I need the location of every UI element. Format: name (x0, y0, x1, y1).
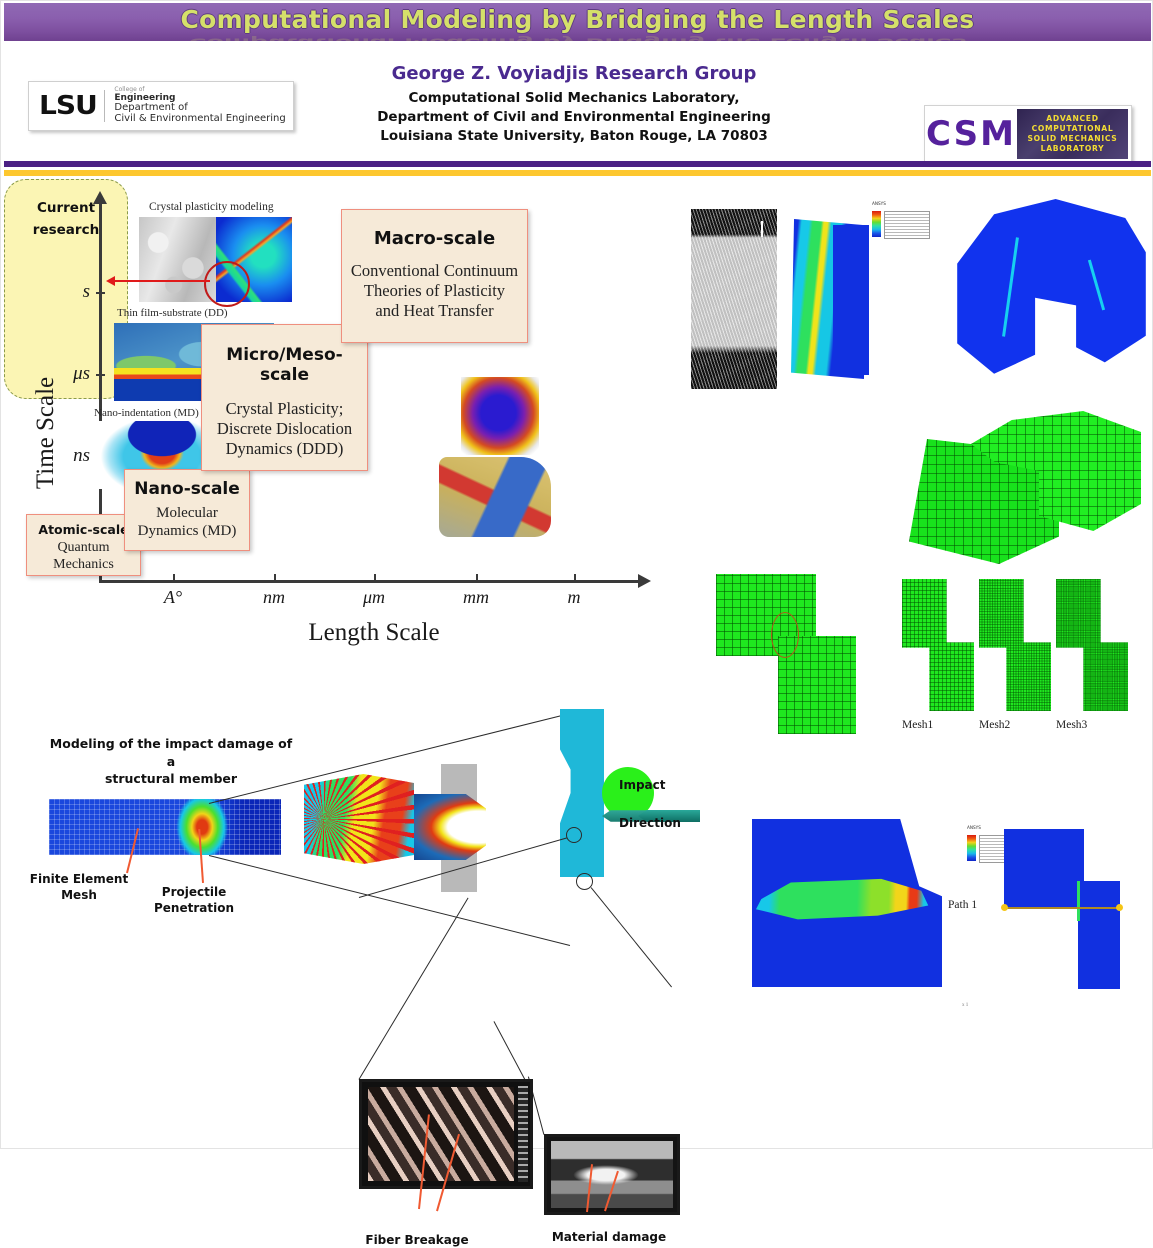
path-axis-tick-label: x 1 (962, 1003, 968, 1008)
y-tick-us (96, 374, 105, 376)
x-tick-nm (274, 574, 276, 583)
divider-gold (4, 170, 1151, 176)
current-research-line-1: Current (5, 198, 127, 220)
x-axis-arrow-icon (638, 574, 651, 588)
shell-simulation-image (461, 377, 539, 455)
divider-purple (4, 161, 1151, 167)
material-damage-sem-image (544, 1134, 680, 1215)
impact-title-line-2: structural member (46, 770, 296, 788)
inset-caption-crystal-plasticity: Crystal plasticity modeling (149, 201, 274, 213)
contour-plot-bottom (752, 819, 942, 987)
csm-line-2: COMPUTATIONAL (1032, 124, 1114, 134)
csm-line-1: ADVANCED (1046, 114, 1098, 124)
poster-body: Time Scale Length Scale s μs ns ps A° nm… (4, 179, 1151, 1147)
path-label: Path 1 (948, 899, 977, 911)
mesh-variant-1: Mesh1 (902, 579, 982, 731)
x-tick-um (374, 574, 376, 583)
callout-leader-fiber-right (493, 1021, 525, 1080)
x-tick-label-m: m (539, 587, 609, 608)
micro-meso-body-1: Crystal Plasticity; (202, 399, 367, 419)
lsu-wordmark: LSU (28, 91, 105, 121)
micro-meso-body-3: Dynamics (DDD) (202, 439, 367, 459)
x-tick-label-angstrom: A° (138, 587, 208, 608)
mesh1-label: Mesh1 (902, 711, 982, 731)
y-tick-label-s: s (40, 281, 90, 303)
path-start-point (1001, 904, 1008, 911)
plate-damage-contour (414, 794, 486, 860)
region-macro-scale: Macro-scale Conventional Continuum Theor… (341, 209, 528, 343)
csm-logo: CSM ADVANCED COMPUTATIONAL SOLID MECHANI… (924, 105, 1132, 163)
scale-bar-icon (761, 221, 763, 237)
header-titles: George Z. Voyiadjis Research Group Compu… (304, 63, 844, 146)
lsu-logo: LSU College of Engineering Department of… (28, 81, 294, 131)
mesh-detail-view (716, 574, 861, 734)
fem-label-line-1: Finite Element (24, 871, 134, 887)
micro-meso-body-2: Discrete Dislocation (202, 419, 367, 439)
y-tick-label-us: μs (40, 363, 90, 385)
projectile-label-line-2: Penetration (144, 900, 244, 916)
contour-legend-top: ANSYS (872, 203, 930, 239)
y-axis-arrow-icon (93, 191, 107, 204)
callout-arrow-icon (114, 280, 210, 282)
engine-cutaway-image (439, 457, 551, 537)
legend-color-bar (872, 211, 881, 237)
x-tick-label-mm: mm (441, 587, 511, 608)
title-banner: Computational Modeling by Bridging the L… (4, 3, 1151, 41)
x-axis-label: Length Scale (254, 619, 494, 647)
legend-caption-bottom: ANSYS (967, 825, 981, 830)
nano-scale-body-1: Molecular (125, 504, 249, 522)
fem-label-line-2: Mesh (24, 887, 134, 903)
csm-line-4: LABORATORY (1041, 144, 1105, 154)
x-tick-angstrom (173, 574, 175, 583)
page-title: Computational Modeling by Bridging the L… (181, 5, 975, 34)
y-tick-label-ns: ns (40, 445, 90, 467)
projectile-label-line-1: Projectile (144, 884, 244, 900)
impact-label: Impact (619, 777, 705, 793)
highlight-circle-icon (204, 261, 250, 307)
zoom-leader-bottom (209, 855, 570, 946)
mesh3-label: Mesh3 (1056, 711, 1136, 731)
x-tick-m (574, 574, 576, 583)
csm-wordmark: CSM (926, 114, 1016, 154)
impact-title-line-1: Modeling of the impact damage of a (46, 735, 296, 770)
callout-circle-fiber (566, 827, 582, 843)
region-nano-scale: Nano-scale Molecular Dynamics (MD) (124, 469, 250, 551)
current-research-line-2: research (5, 220, 127, 242)
region-micro-meso-scale: Micro/Meso-scale Crystal Plasticity; Dis… (201, 324, 368, 471)
x-tick-mm (476, 574, 478, 583)
inset-caption-thin-film: Thin film-substrate (DD) (117, 307, 228, 319)
affiliation-line-2: Department of Civil and Environmental En… (304, 108, 844, 127)
path-plot (1004, 829, 1124, 989)
fiber-breakage-label: Fiber Breakage (354, 1232, 480, 1248)
title-reflection: Computational Modeling by Bridging the L… (4, 36, 1151, 41)
header: LSU College of Engineering Department of… (4, 45, 1151, 157)
projectile-penetration-label: Projectile Penetration (144, 884, 244, 916)
path-end-point (1116, 904, 1123, 911)
finite-element-mesh-label: Finite Element Mesh (24, 871, 134, 903)
x-tick-label-nm: nm (239, 587, 309, 608)
affiliation-line-3: Louisiana State University, Baton Rouge,… (304, 127, 844, 146)
lsu-logo-text: College of Engineering Department of Civ… (114, 87, 285, 125)
x-axis (99, 580, 642, 583)
green-3d-mesh-model (909, 411, 1149, 591)
legend-caption-top: ANSYS (872, 201, 886, 206)
velocity-vector-plot (304, 774, 414, 864)
csm-logo-right: ADVANCED COMPUTATIONAL SOLID MECHANICS L… (1017, 109, 1128, 159)
mesh-variant-2: Mesh2 (979, 579, 1059, 731)
research-group-title: George Z. Voyiadjis Research Group (304, 63, 844, 84)
mesh-highlight-circle-icon (771, 612, 799, 658)
finite-element-mesh-strip (49, 799, 281, 855)
macro-scale-body-3: and Heat Transfer (342, 301, 527, 321)
x-tick-label-um: μm (339, 587, 409, 608)
callout-leader-material-right (591, 887, 672, 987)
macro-scale-body-1: Conventional Continuum (342, 261, 527, 281)
macro-scale-heading: Macro-scale (342, 210, 527, 249)
mesh2-label: Mesh2 (979, 711, 1059, 731)
path-line (1004, 907, 1120, 909)
mesh3-shape (1056, 579, 1128, 711)
contour-plot-blade-back (833, 225, 869, 375)
micrograph-image (691, 209, 777, 389)
material-damage-label: Material damage (544, 1229, 674, 1245)
callout-leader-fiber-left (358, 898, 468, 1080)
direction-label: Direction (619, 815, 711, 831)
nano-scale-body-2: Dynamics (MD) (125, 522, 249, 540)
csm-line-3: SOLID MECHANICS (1028, 134, 1118, 144)
mesh1-shape (902, 579, 974, 711)
mesh2-shape (979, 579, 1051, 711)
nano-scale-heading: Nano-scale (125, 470, 249, 499)
impact-section-title: Modeling of the impact damage of a struc… (46, 735, 296, 788)
y-tick-s (96, 292, 105, 294)
affiliation-line-1: Computational Solid Mechanics Laboratory… (304, 89, 844, 108)
atomic-scale-body-2: Mechanics (27, 556, 140, 573)
legend-color-bar-bottom (967, 835, 976, 861)
inset-caption-nano-indentation: Nano-indentation (MD) (94, 407, 199, 419)
cylinder-3d-model (949, 199, 1153, 389)
csm-logo-left: CSM (925, 106, 1017, 162)
macro-scale-body-2: Theories of Plasticity (342, 281, 527, 301)
legend-value-rows (884, 211, 930, 239)
deformed-beam (560, 709, 604, 877)
mesh-variant-3: Mesh3 (1056, 579, 1136, 731)
lsu-department-name: Civil & Environmental Engineering (114, 114, 285, 125)
